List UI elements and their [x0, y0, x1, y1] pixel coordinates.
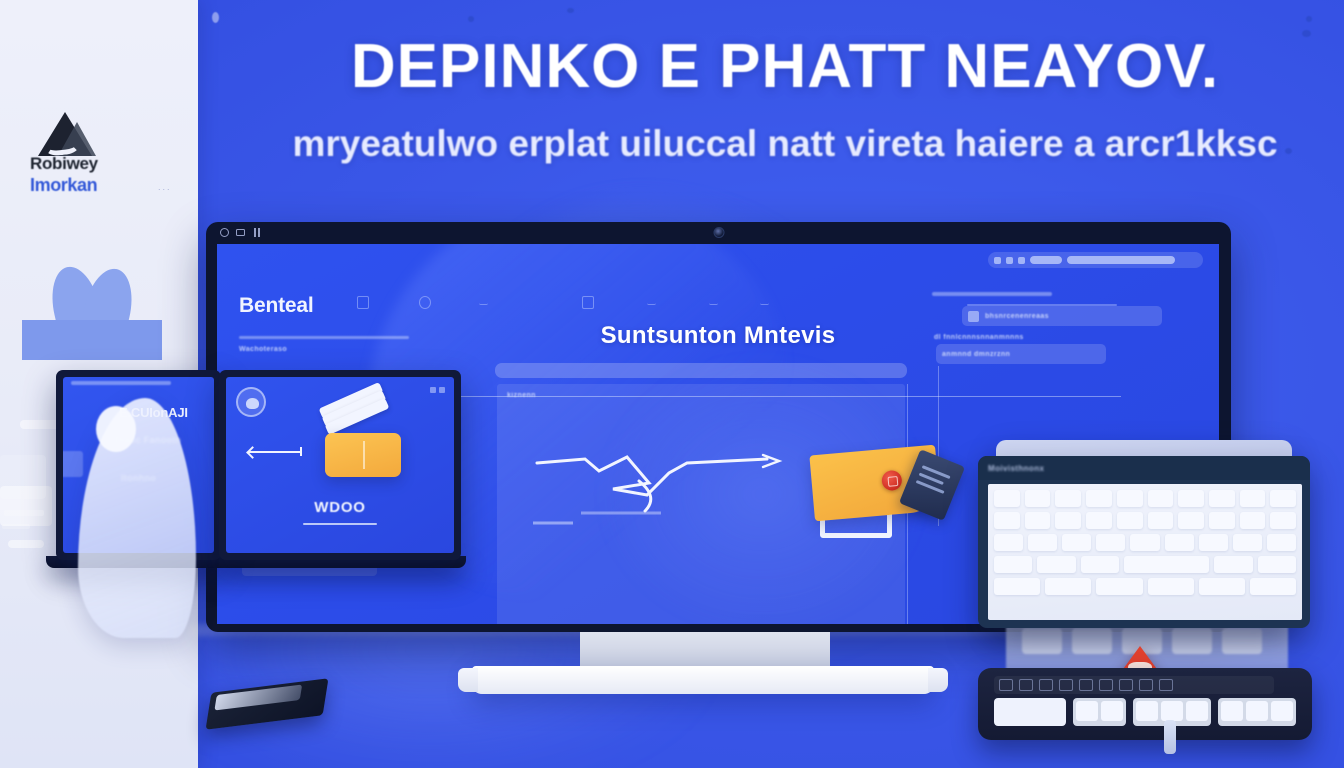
minimize-icon[interactable] — [430, 387, 436, 393]
key-row[interactable] — [994, 534, 1296, 551]
bookmark-icon — [1006, 257, 1013, 264]
pin-icon[interactable] — [647, 296, 656, 305]
laptop-right-word: WDOO — [226, 499, 454, 516]
laptop-right-underline — [303, 523, 377, 525]
laptop-left-ghost-bar — [71, 381, 171, 385]
volume-icon[interactable] — [1019, 679, 1033, 691]
brand-line-1: Robiwey — [30, 154, 170, 174]
brand-logo[interactable]: Robiwey Imorkan ... — [30, 112, 170, 196]
side-row[interactable]: bhsnrcenenreaas — [962, 306, 1162, 326]
laptop-left-ghost-block — [63, 451, 83, 477]
laptop-right: WDOO — [219, 370, 461, 560]
speckle — [567, 8, 574, 13]
orange-card-icon — [325, 433, 401, 477]
monitor-stand-base — [472, 666, 934, 694]
device-key-area[interactable] — [994, 698, 1296, 726]
url-segment — [1030, 256, 1062, 264]
app-brand-name: Benteal — [239, 294, 313, 318]
key-group[interactable] — [1073, 698, 1126, 726]
content-panel-header — [495, 363, 907, 378]
side-row-label: anmnnd dmnzrznn — [942, 351, 1010, 358]
mountain-peak-icon — [38, 112, 96, 158]
keyboard-device — [978, 668, 1312, 740]
side-ghost-rule — [932, 292, 1052, 296]
window-content — [988, 484, 1302, 620]
bars-icon — [252, 228, 261, 237]
illustration-stage: Robiwey Imorkan ... DEPINKO E PHATT NEAY… — [0, 0, 1344, 768]
envelope-illustration — [812, 444, 962, 554]
key-group[interactable] — [1218, 698, 1296, 726]
calendar-icon[interactable] — [582, 296, 594, 309]
faint-ui-block — [0, 455, 46, 499]
circular-bird-logo-icon — [236, 387, 266, 417]
potted-plant-icon — [10, 266, 170, 386]
side-section-header: dl fnnlcnnnsnnanmnnns — [934, 334, 1024, 341]
id-icon — [968, 311, 979, 322]
home-icon[interactable] — [1119, 679, 1133, 691]
spacebar-key[interactable] — [994, 698, 1066, 726]
back-icon[interactable] — [1139, 679, 1153, 691]
gallery-icon[interactable] — [357, 296, 369, 309]
speckle — [468, 16, 474, 22]
brand-trailing-dots: ... — [158, 182, 172, 192]
key-row[interactable] — [994, 490, 1296, 507]
panel-ghost-line — [8, 540, 44, 548]
joystick-knob-icon[interactable] — [1164, 720, 1176, 754]
power-icon[interactable] — [1079, 679, 1093, 691]
user-icon[interactable] — [419, 296, 431, 309]
wax-seal-icon — [881, 470, 903, 492]
faint-ui-line — [2, 524, 30, 529]
circle-icon — [220, 228, 229, 237]
mute-icon[interactable] — [999, 679, 1013, 691]
tab-icon — [1018, 257, 1025, 264]
device-icon-row[interactable] — [994, 676, 1274, 694]
battery-icon[interactable] — [1059, 679, 1073, 691]
side-row-label: bhsnrcenenreaas — [985, 313, 1049, 320]
panel-divider — [385, 396, 1121, 397]
slash-icon[interactable] — [709, 296, 718, 305]
key-row[interactable] — [994, 556, 1296, 573]
page-subtitle: mryeatulwo erplat uiluccal natt vireta h… — [226, 123, 1344, 165]
window-title: Moivisthnonx — [988, 464, 1044, 473]
signature-scribble-icon — [527, 439, 787, 535]
arrow-left-icon — [248, 451, 302, 453]
webcam-icon — [713, 227, 724, 238]
speckle — [212, 12, 219, 23]
hero-text-block: DEPINKO E PHATT NEAYOV. mryeatulwo erpla… — [226, 34, 1344, 165]
side-row[interactable]: anmnnd dmnzrznn — [936, 344, 1106, 364]
browser-address-bar[interactable] — [988, 252, 1203, 268]
search-icon[interactable] — [1159, 679, 1173, 691]
shield-icon — [994, 257, 1001, 264]
faint-ui-line — [4, 510, 44, 516]
window-titlebar: Moivisthnonx — [978, 456, 1310, 480]
tablet-window: Moivisthnonx — [978, 456, 1310, 628]
question-icon[interactable] — [760, 296, 769, 305]
key-row[interactable] — [994, 512, 1296, 529]
speckle — [1306, 16, 1312, 22]
menu-icon[interactable] — [1099, 679, 1113, 691]
key-row[interactable] — [994, 578, 1296, 595]
page-title: DEPINKO E PHATT NEAYOV. — [226, 34, 1344, 99]
close-icon[interactable] — [439, 387, 445, 393]
bezel-icon-group — [220, 228, 261, 237]
laptop-right-screen: WDOO — [226, 377, 454, 553]
rectangle-icon — [236, 229, 245, 236]
wifi-icon[interactable] — [1039, 679, 1053, 691]
brand-line-2: Imorkan — [30, 175, 170, 196]
flag-icon[interactable] — [479, 296, 488, 305]
paper-stack-icon — [318, 389, 390, 429]
window-buttons[interactable] — [430, 387, 445, 393]
url-value — [1067, 256, 1175, 264]
